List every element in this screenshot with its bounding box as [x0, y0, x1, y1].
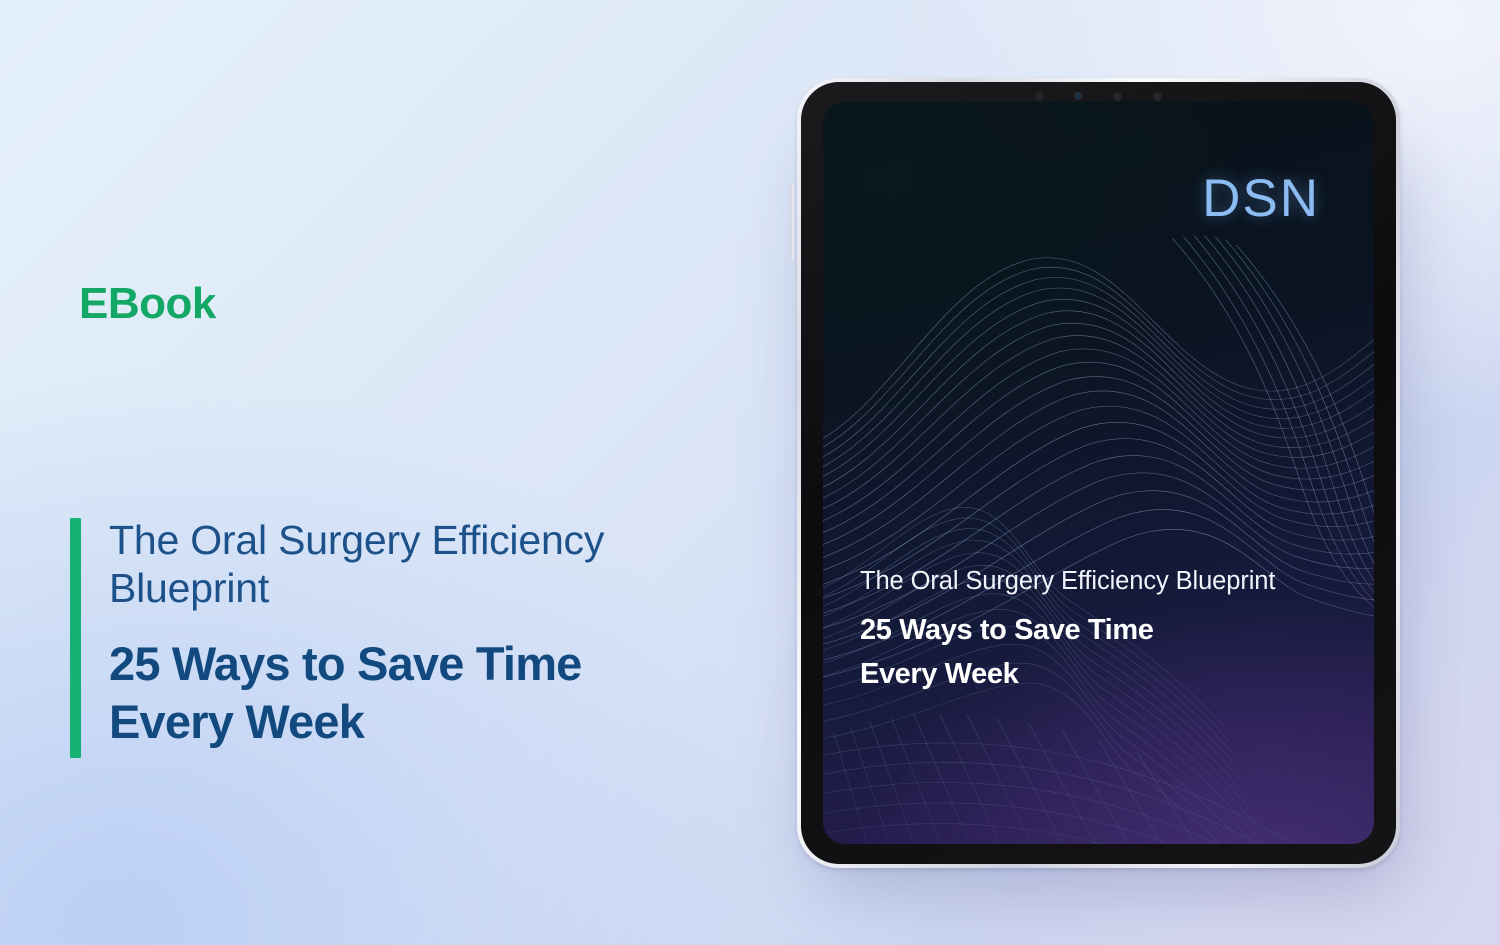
eyebrow-label: EBook — [79, 282, 216, 326]
ambient-sensor-icon — [1113, 92, 1122, 101]
tablet-bezel: DSN The Oral Surgery Efficiency Blueprin… — [801, 82, 1396, 864]
promo-banner: EBook The Oral Surgery Efficiency Bluepr… — [0, 0, 1500, 945]
headline-block: The Oral Surgery Efficiency Blueprint 25… — [70, 516, 770, 750]
cover-subtitle: The Oral Surgery Efficiency Blueprint — [860, 566, 1370, 597]
cover-title: 25 Ways to Save Time Every Week — [860, 608, 1370, 696]
camera-notch — [1035, 91, 1163, 101]
subtitle: The Oral Surgery Efficiency Blueprint — [109, 516, 770, 613]
proximity-sensor-icon — [1153, 92, 1162, 101]
sensor-icon — [1035, 92, 1044, 101]
tablet-screen: DSN The Oral Surgery Efficiency Blueprin… — [823, 102, 1374, 844]
cover-copy-group: The Oral Surgery Efficiency Blueprint 25… — [860, 566, 1370, 696]
left-content-column: EBook The Oral Surgery Efficiency Bluepr… — [0, 0, 780, 945]
power-button[interactable] — [790, 183, 794, 261]
front-camera-icon — [1075, 93, 1081, 99]
page-title: 25 Ways to Save Time Every Week — [109, 635, 770, 751]
tablet-device: DSN The Oral Surgery Efficiency Blueprin… — [797, 78, 1400, 868]
dsn-brand-logo: DSN — [1202, 172, 1320, 225]
headline-text-group: The Oral Surgery Efficiency Blueprint 25… — [70, 516, 770, 750]
accent-bar — [70, 518, 81, 758]
